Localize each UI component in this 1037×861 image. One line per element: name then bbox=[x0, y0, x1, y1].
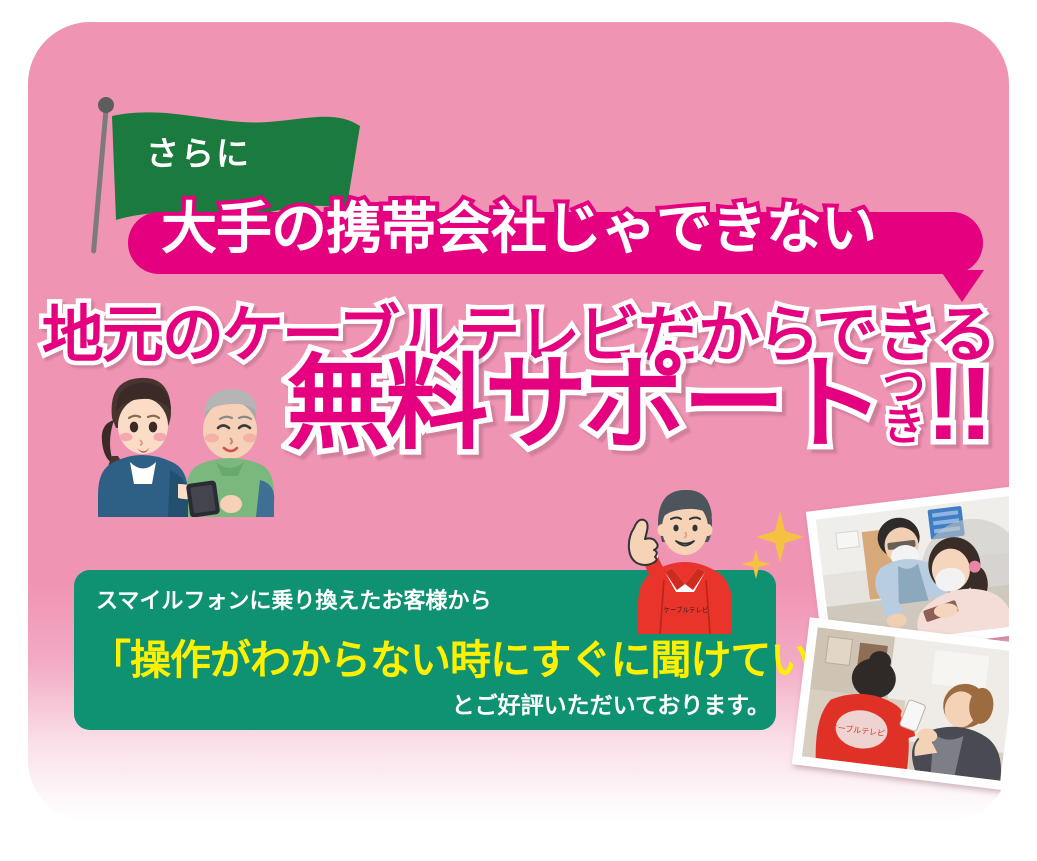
headline-suffix-stack: つ き bbox=[882, 368, 925, 447]
testimonial-outro: とご好評いただいております。 bbox=[28, 686, 770, 720]
people-illustration-icon bbox=[90, 352, 280, 517]
promo-panel: さらに 大手の携帯会社じゃできない 地元のケーブルテレビだからできる 無料サポー… bbox=[28, 22, 1009, 822]
headline-line-1: 大手の携帯会社じゃできない bbox=[28, 184, 1009, 265]
staff-jacket-logo-text: ケーブルテレビ bbox=[663, 605, 708, 614]
headline-main-text: 無料サポート bbox=[286, 352, 880, 455]
testimonial-intro: スマイルフォンに乗り換えたお客様から bbox=[96, 583, 491, 615]
staff-thumbs-up-illustration-icon: ケーブルテレビ bbox=[616, 484, 748, 634]
sparkle-icon bbox=[738, 507, 808, 587]
headline-suffix-bottom: き bbox=[882, 407, 925, 447]
photo-red-jacket-staff-helping-customer: ケーブルテレビ bbox=[792, 617, 1009, 790]
headline-exclamation: !! bbox=[926, 352, 991, 455]
flag-label: さらに bbox=[146, 127, 251, 175]
